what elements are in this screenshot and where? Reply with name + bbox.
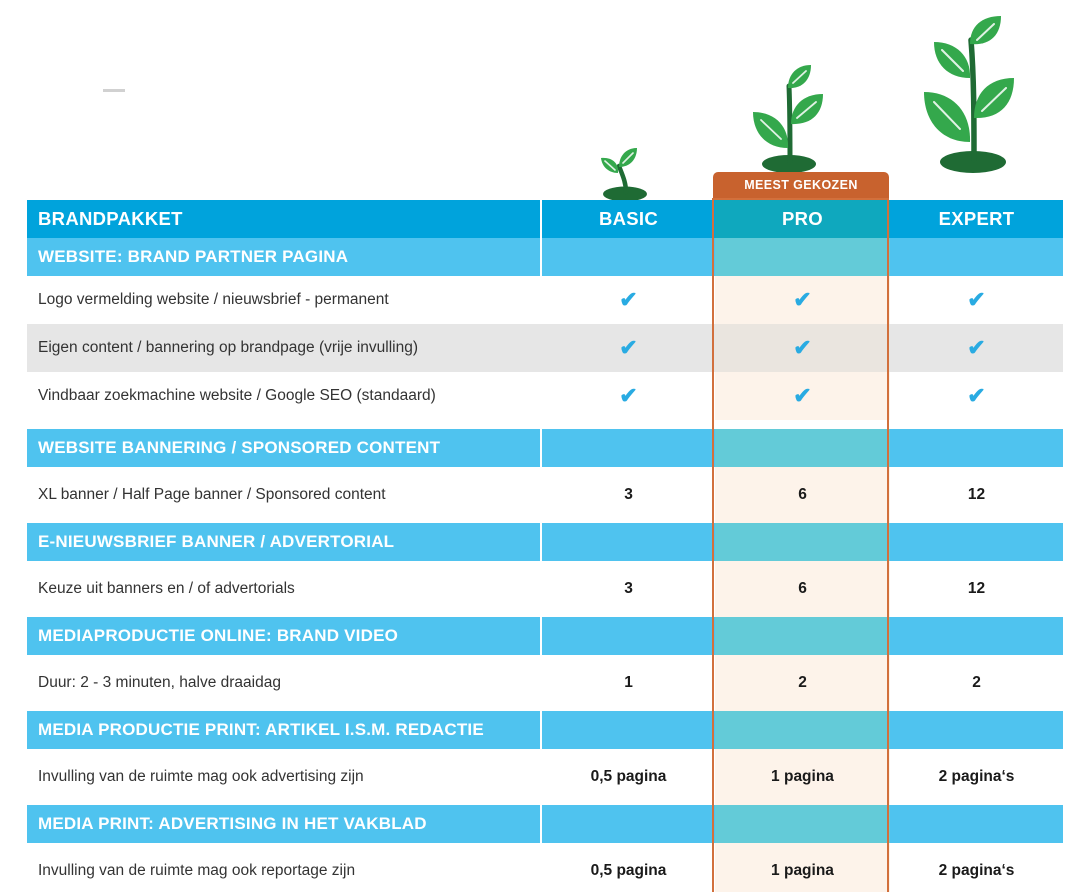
row-label: XL banner / Half Page banner / Sponsored… bbox=[27, 467, 540, 523]
header-label-cell: BRANDPAKKET bbox=[27, 200, 540, 238]
section-cell-expert bbox=[890, 711, 1063, 749]
section-row: MEDIAPRODUCTIE ONLINE: BRAND VIDEO bbox=[27, 617, 1062, 655]
section-cell-expert bbox=[890, 238, 1063, 276]
cell-pro: ✔ bbox=[715, 276, 890, 324]
cell-basic: 1 bbox=[542, 655, 715, 711]
section-cell-basic bbox=[542, 429, 715, 467]
section-cell-expert bbox=[890, 617, 1063, 655]
pro-highlight-top bbox=[712, 198, 889, 200]
table-row: Duur: 2 - 3 minuten, halve draaidag 1 2 … bbox=[27, 655, 1062, 711]
table-row: Invulling van de ruimte mag ook advertis… bbox=[27, 749, 1062, 805]
cell-expert: 2 bbox=[890, 655, 1063, 711]
cell-basic: 3 bbox=[542, 467, 715, 523]
table-row: Keuze uit banners en / of advertorials 3… bbox=[27, 561, 1062, 617]
section-row: WEBSITE BANNERING / SPONSORED CONTENT bbox=[27, 429, 1062, 467]
cell-basic: ✔ bbox=[542, 324, 715, 372]
table-row: XL banner / Half Page banner / Sponsored… bbox=[27, 467, 1062, 523]
header-col-basic[interactable]: BASIC bbox=[542, 200, 715, 238]
check-icon: ✔ bbox=[793, 337, 811, 359]
cell-expert: ✔ bbox=[890, 372, 1063, 420]
row-label: Invulling van de ruimte mag ook advertis… bbox=[27, 749, 540, 805]
table-row: Eigen content / bannering op brandpage (… bbox=[27, 324, 1062, 372]
section-row: E-NIEUWSBRIEF BANNER / ADVERTORIAL bbox=[27, 523, 1062, 561]
pricing-comparison-table: MEEST GEKOZEN BRANDPAKKET BASIC PRO EXPE… bbox=[0, 0, 1080, 892]
cell-basic: 3 bbox=[542, 561, 715, 617]
pro-highlight-right bbox=[887, 198, 889, 892]
check-icon: ✔ bbox=[619, 385, 637, 407]
table-row: Logo vermelding website / nieuwsbrief - … bbox=[27, 276, 1062, 324]
section-cell-basic bbox=[542, 805, 715, 843]
cell-basic: 0,5 pagina bbox=[542, 843, 715, 892]
spacer-label bbox=[27, 420, 540, 429]
section-label: WEBSITE BANNERING / SPONSORED CONTENT bbox=[27, 429, 540, 467]
table-row: Invulling van de ruimte mag ook reportag… bbox=[27, 843, 1062, 892]
section-label: MEDIA PRINT: ADVERTISING IN HET VAKBLAD bbox=[27, 805, 540, 843]
row-label: Vindbaar zoekmachine website / Google SE… bbox=[27, 372, 540, 420]
row-label: Logo vermelding website / nieuwsbrief - … bbox=[27, 276, 540, 324]
check-icon: ✔ bbox=[967, 289, 985, 311]
pro-highlight-left bbox=[712, 198, 714, 892]
section-cell-pro bbox=[715, 429, 890, 467]
section-cell-pro bbox=[715, 617, 890, 655]
row-label: Eigen content / bannering op brandpage (… bbox=[27, 324, 540, 372]
cell-expert: 12 bbox=[890, 561, 1063, 617]
section-cell-basic bbox=[542, 238, 715, 276]
cell-pro: 2 bbox=[715, 655, 890, 711]
section-label: MEDIAPRODUCTIE ONLINE: BRAND VIDEO bbox=[27, 617, 540, 655]
plant-basic-icon bbox=[585, 140, 665, 202]
table-header-row: BRANDPAKKET BASIC PRO EXPERT bbox=[27, 200, 1062, 238]
section-cell-basic bbox=[542, 711, 715, 749]
cell-pro: 6 bbox=[715, 467, 890, 523]
section-label: E-NIEUWSBRIEF BANNER / ADVERTORIAL bbox=[27, 523, 540, 561]
section-row: MEDIA PRINT: ADVERTISING IN HET VAKBLAD bbox=[27, 805, 1062, 843]
check-icon: ✔ bbox=[793, 289, 811, 311]
cell-pro: 1 pagina bbox=[715, 843, 890, 892]
row-label: Invulling van de ruimte mag ook reportag… bbox=[27, 843, 540, 892]
header-col-expert[interactable]: EXPERT bbox=[890, 200, 1063, 238]
row-label: Keuze uit banners en / of advertorials bbox=[27, 561, 540, 617]
section-cell-pro bbox=[715, 238, 890, 276]
comparison-table: BRANDPAKKET BASIC PRO EXPERT WEBSITE: BR… bbox=[27, 200, 1062, 892]
section-row: WEBSITE: BRAND PARTNER PAGINA bbox=[27, 238, 1062, 276]
cell-basic: ✔ bbox=[542, 372, 715, 420]
section-cell-pro bbox=[715, 805, 890, 843]
section-cell-expert bbox=[890, 429, 1063, 467]
cell-pro: ✔ bbox=[715, 372, 890, 420]
section-label: WEBSITE: BRAND PARTNER PAGINA bbox=[27, 238, 540, 276]
section-cell-expert bbox=[890, 523, 1063, 561]
cell-expert: ✔ bbox=[890, 324, 1063, 372]
check-icon: ✔ bbox=[619, 289, 637, 311]
section-label: MEDIA PRODUCTIE PRINT: ARTIKEL I.S.M. RE… bbox=[27, 711, 540, 749]
section-row: MEDIA PRODUCTIE PRINT: ARTIKEL I.S.M. RE… bbox=[27, 711, 1062, 749]
cell-expert: 12 bbox=[890, 467, 1063, 523]
row-label: Duur: 2 - 3 minuten, halve draaidag bbox=[27, 655, 540, 711]
most-chosen-badge: MEEST GEKOZEN bbox=[713, 172, 889, 198]
cell-basic: ✔ bbox=[542, 276, 715, 324]
header-col-pro[interactable]: PRO bbox=[715, 200, 890, 238]
cell-expert: ✔ bbox=[890, 276, 1063, 324]
plant-pro-icon bbox=[737, 62, 841, 174]
cell-pro: 6 bbox=[715, 561, 890, 617]
artifact-mark bbox=[103, 89, 125, 92]
spacer-pro bbox=[715, 420, 890, 429]
table-row: Vindbaar zoekmachine website / Google SE… bbox=[27, 372, 1062, 420]
section-cell-pro bbox=[715, 711, 890, 749]
section-cell-basic bbox=[542, 617, 715, 655]
check-icon: ✔ bbox=[967, 337, 985, 359]
row-spacer bbox=[27, 420, 1062, 429]
section-cell-pro bbox=[715, 523, 890, 561]
spacer-expert bbox=[890, 420, 1063, 429]
spacer-basic bbox=[542, 420, 715, 429]
check-icon: ✔ bbox=[967, 385, 985, 407]
check-icon: ✔ bbox=[793, 385, 811, 407]
cell-expert: 2 pagina‘s bbox=[890, 843, 1063, 892]
check-icon: ✔ bbox=[619, 337, 637, 359]
cell-expert: 2 pagina‘s bbox=[890, 749, 1063, 805]
plant-expert-icon bbox=[908, 16, 1038, 176]
section-cell-basic bbox=[542, 523, 715, 561]
cell-basic: 0,5 pagina bbox=[542, 749, 715, 805]
cell-pro: 1 pagina bbox=[715, 749, 890, 805]
cell-pro: ✔ bbox=[715, 324, 890, 372]
section-cell-expert bbox=[890, 805, 1063, 843]
